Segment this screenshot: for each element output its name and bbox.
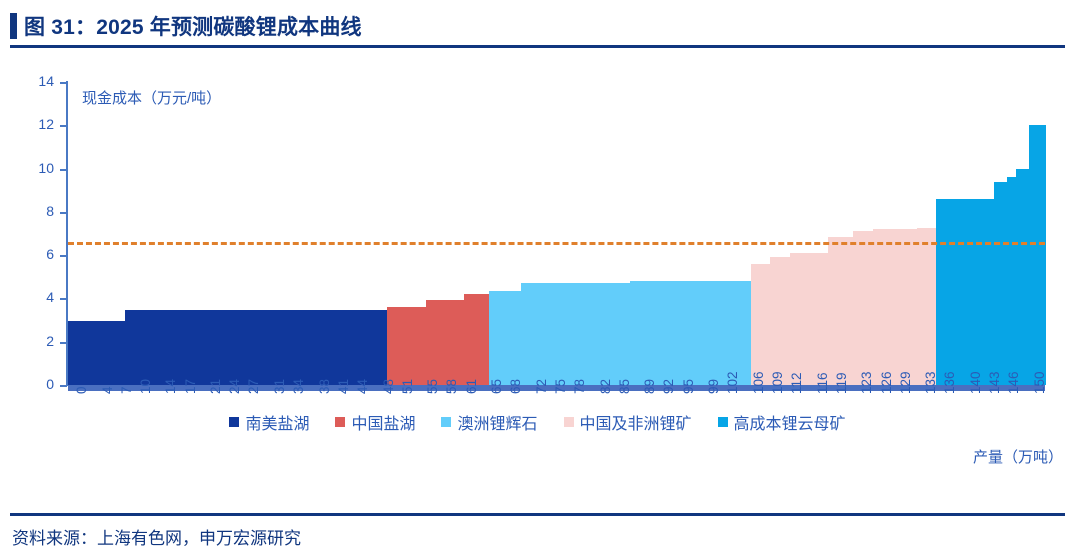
y-axis-tick (60, 212, 67, 214)
y-axis-tick-label: 10 (14, 160, 54, 176)
x-axis-tick-label: 82 (598, 379, 613, 394)
x-axis-tick-label: 85 (617, 379, 632, 394)
x-axis-tick-label: 123 (859, 371, 874, 394)
y-axis-tick-label: 14 (14, 73, 54, 89)
x-axis-tick-label: 41 (336, 379, 351, 394)
x-axis-tick-label: 99 (706, 379, 721, 394)
x-axis-tick-label: 48 (381, 379, 396, 394)
cost-curve-step (387, 307, 426, 385)
y-axis-tick-label: 6 (14, 246, 54, 262)
legend-item-label: 高成本锂云母矿 (734, 410, 846, 434)
x-axis-tick-label: 126 (879, 371, 894, 394)
x-axis-tick-label: 150 (1032, 371, 1047, 394)
x-axis-tick-label: 109 (770, 371, 785, 394)
y-axis-tick-label: 4 (14, 289, 54, 305)
plot-area (68, 82, 1045, 385)
x-axis-tick-label: 10 (138, 379, 153, 394)
x-axis-tick-label: 7 (119, 386, 134, 394)
x-axis-tick-label: 51 (400, 379, 415, 394)
legend-item[interactable]: 中国盐湖 (335, 410, 415, 434)
x-axis-tick-label: 4 (100, 386, 115, 394)
legend-item-label: 澳洲锂辉石 (457, 410, 537, 434)
x-axis-tick-label: 24 (227, 379, 242, 394)
x-axis-tick-label: 112 (789, 372, 804, 394)
x-axis-tick-label: 78 (572, 379, 587, 394)
title-accent-bar (10, 13, 17, 39)
legend-swatch-icon (441, 417, 451, 427)
x-axis-tick-label: 146 (1006, 371, 1021, 394)
x-axis-tick-label: 44 (355, 379, 370, 394)
x-axis-tick-label: 133 (923, 371, 938, 394)
legend-swatch-icon (564, 417, 574, 427)
cost-curve-step (464, 294, 490, 385)
legend-swatch-icon (229, 417, 239, 427)
cost-curve-step (426, 300, 465, 385)
x-axis-tick-label: 129 (898, 371, 913, 394)
cost-curve-step (1016, 169, 1029, 385)
legend-item[interactable]: 澳洲锂辉石 (441, 410, 537, 434)
legend-swatch-icon (718, 417, 728, 427)
page-title: 图 31：2025 年预测碳酸锂成本曲线 (24, 11, 362, 41)
x-axis-tick-label: 136 (942, 371, 957, 394)
x-axis-tick-label: 61 (464, 379, 479, 394)
cost-curve-step (751, 264, 771, 385)
source-note: 资料来源：上海有色网，申万宏源研究 (12, 524, 301, 549)
cost-curve-step (1029, 125, 1046, 385)
x-axis-tick-label: 89 (642, 379, 657, 394)
cost-curve-step (790, 253, 829, 385)
x-axis-tick-label: 34 (291, 379, 306, 394)
cost-curve-step (489, 291, 522, 385)
footer-divider (10, 513, 1065, 516)
x-axis-tick-label: 58 (444, 379, 459, 394)
cost-curve-step (917, 228, 937, 385)
y-axis-tick-label: 2 (14, 333, 54, 349)
y-axis-tick (60, 385, 67, 387)
threshold-line (68, 242, 1045, 245)
x-axis-tick-label: 119 (834, 372, 849, 394)
x-axis-tick-label: 17 (183, 379, 198, 394)
y-axis-tick (60, 342, 67, 344)
x-axis-tick-label: 116 (815, 372, 830, 394)
legend-item-label: 中国盐湖 (351, 410, 415, 434)
y-axis-tick (60, 82, 67, 84)
legend-item-label: 南美盐湖 (245, 410, 309, 434)
legend-item[interactable]: 中国及非洲锂矿 (564, 410, 692, 434)
legend-item[interactable]: 高成本锂云母矿 (718, 410, 846, 434)
cost-curve-step (936, 199, 994, 385)
y-axis-tick-label: 8 (14, 203, 54, 219)
figure-title-block: 图 31：2025 年预测碳酸锂成本曲线 (0, 0, 1075, 47)
x-axis-tick-label: 38 (317, 379, 332, 394)
chart-legend: 南美盐湖中国盐湖澳洲锂辉石中国及非洲锂矿高成本锂云母矿 (0, 407, 1075, 437)
x-axis-tick-label: 92 (661, 379, 676, 394)
figure-container: 图 31：2025 年预测碳酸锂成本曲线 02468101214 现金成本（万元… (0, 0, 1075, 559)
y-axis-tick-label: 12 (14, 116, 54, 132)
x-axis-tick-label: 95 (681, 379, 696, 394)
x-axis-tick-label: 14 (163, 379, 178, 394)
x-axis-tick-label: 68 (508, 379, 523, 394)
x-axis-tick-label: 106 (751, 371, 766, 394)
y-axis-tick-label: 0 (14, 376, 54, 392)
x-axis-tick-label: 140 (968, 371, 983, 394)
y-axis-tick (60, 298, 67, 300)
x-axis-tick-label: 55 (425, 379, 440, 394)
cost-curve-step (828, 237, 854, 385)
cost-curve-step (521, 283, 630, 385)
legend-item-label: 中国及非洲锂矿 (580, 410, 692, 434)
cost-curve-step (873, 229, 918, 385)
y-axis-tick (60, 125, 67, 127)
cost-curve-step (125, 310, 387, 385)
x-axis-tick-label: 143 (987, 371, 1002, 394)
x-axis-tick-label: 27 (246, 379, 261, 394)
x-axis-tick-label: 75 (553, 379, 568, 394)
y-axis-tick (60, 255, 67, 257)
x-axis-title: 产量（万吨） (973, 446, 1063, 467)
cost-curve-step (853, 231, 873, 385)
cost-curve-step (994, 182, 1007, 385)
cost-curve-step (770, 257, 790, 385)
x-axis-tick-label: 31 (272, 379, 287, 394)
x-axis-tick-label: 0 (74, 386, 89, 394)
y-axis-tick (60, 169, 67, 171)
x-axis-tick-label: 21 (208, 379, 223, 394)
x-axis-tick-label: 65 (489, 379, 504, 394)
legend-item[interactable]: 南美盐湖 (229, 410, 309, 434)
x-axis-tick-label: 72 (534, 379, 549, 394)
x-axis-tick-label: 102 (725, 371, 740, 394)
legend-swatch-icon (335, 417, 345, 427)
cost-curve-step (68, 321, 126, 385)
cost-curve-step (630, 281, 752, 385)
